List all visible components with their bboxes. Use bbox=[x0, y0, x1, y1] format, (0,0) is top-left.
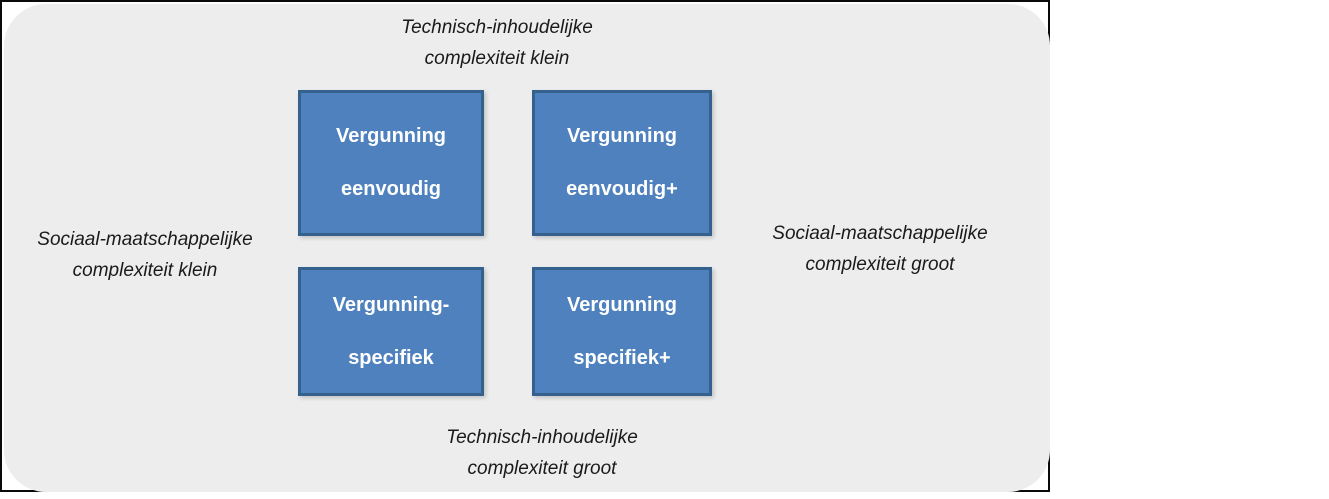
axis-label-right: Sociaal-maatschappelijke complexiteit gr… bbox=[730, 218, 1030, 280]
quadrant-box-vergunning-eenvoudig-plus[interactable]: Vergunning eenvoudig+ bbox=[532, 90, 712, 236]
axis-label-top: Technisch-inhoudelijke complexiteit klei… bbox=[287, 12, 707, 74]
quadrant-box-line1: Vergunning bbox=[567, 125, 677, 148]
quadrant-box-line2: eenvoudig+ bbox=[566, 178, 678, 201]
quadrant-box-line2: specifiek bbox=[348, 347, 434, 370]
diagram-outer-frame: Technisch-inhoudelijke complexiteit klei… bbox=[0, 0, 1050, 492]
quadrant-box-line2: specifiek+ bbox=[573, 347, 670, 370]
quadrant-box-vergunning-eenvoudig[interactable]: Vergunning eenvoudig bbox=[298, 90, 484, 236]
quadrant-box-vergunning-specifiek[interactable]: Vergunning- specifiek bbox=[298, 267, 484, 396]
axis-label-left: Sociaal-maatschappelijke complexiteit kl… bbox=[6, 224, 284, 286]
quadrant-box-line2: eenvoudig bbox=[341, 178, 441, 201]
complexity-matrix-diagram: Technisch-inhoudelijke complexiteit klei… bbox=[0, 0, 1329, 499]
quadrant-box-vergunning-specifiek-plus[interactable]: Vergunning specifiek+ bbox=[532, 267, 712, 396]
quadrant-box-line1: Vergunning bbox=[567, 294, 677, 317]
quadrant-box-line1: Vergunning- bbox=[333, 294, 450, 317]
axis-label-bottom: Technisch-inhoudelijke complexiteit groo… bbox=[357, 422, 727, 484]
quadrant-box-line1: Vergunning bbox=[336, 125, 446, 148]
